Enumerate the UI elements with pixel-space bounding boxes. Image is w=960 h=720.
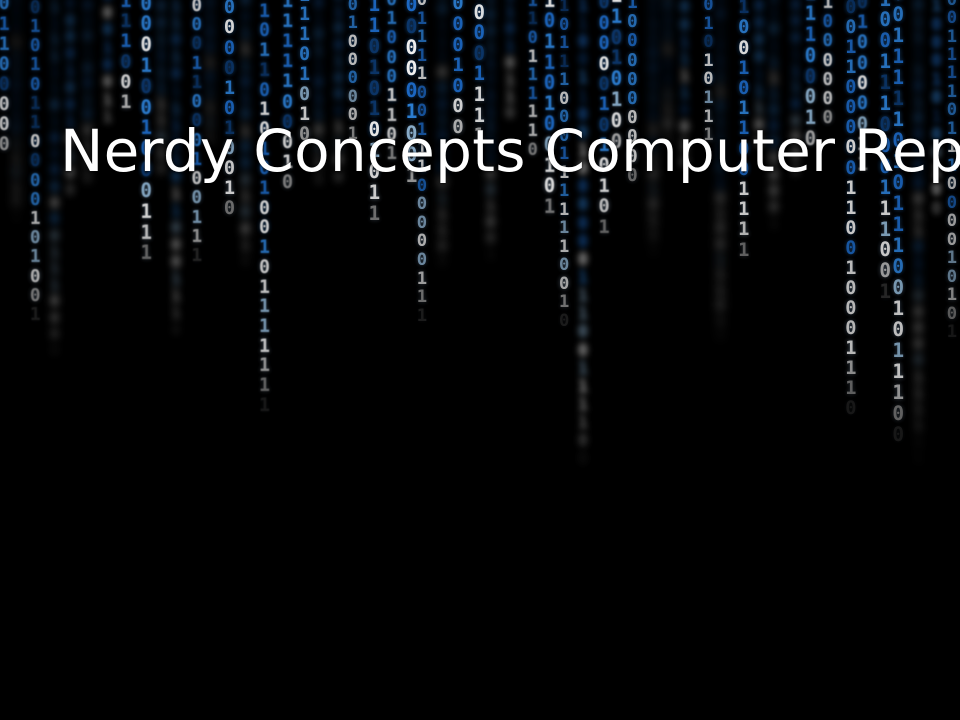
presentation-slide: 0110000011001110110110101010101100001010… [0,0,960,720]
rain-column-haze: 0000011100010111100 [798,0,830,537]
rain-column: 00010011 [98,0,117,125]
binary-matrix-background: 0110000011001110110110101010101100001010… [0,0,960,720]
rain-column-haze: 100100111110001011100 [12,28,35,459]
rain-column: 01010110000101001 [25,0,45,324]
rain-column: 11001110110110101 [8,0,24,225]
rain-column-haze: 0111100000011101010 [467,5,494,468]
rain-column: 11000000 [818,0,839,128]
rain-column: 1101101010100101111111 [254,0,275,415]
rain-column-haze: 010111111000110110000 [834,13,854,395]
rain-column-haze: 101110100010110000000 [233,19,265,615]
rain-column-haze: 110010100110001110 [417,5,445,455]
rain-column: 001111010010001101100000111111 [910,0,927,465]
rain-column: 1111001 [115,0,137,114]
rain-column-haze: 1111011011010010 [143,26,176,507]
title-block: Nerdy Concepts Computer Repair [60,112,900,190]
rain-column: 0011111010111001011100 [887,0,909,446]
rain-column-haze: 000111100110101001010 [328,9,348,382]
rain-column-haze: 1100001000110110 [526,0,558,450]
page-title: Nerdy Concepts Computer Repair [60,117,960,185]
rain-column: 111010110 [501,0,519,122]
rain-column: 01100000 [0,0,15,156]
rain-column: 0100010100100 [927,0,947,218]
rain-column-haze: 111111010101010 [602,20,629,384]
rain-column-haze: 0100011000010000100 [557,22,585,508]
rain-column: 0001100000110010001110 [840,0,861,420]
rain-column: 11001100100000011100111100 [573,0,592,468]
rain-column-haze: 10100110001110111110 [581,29,605,463]
